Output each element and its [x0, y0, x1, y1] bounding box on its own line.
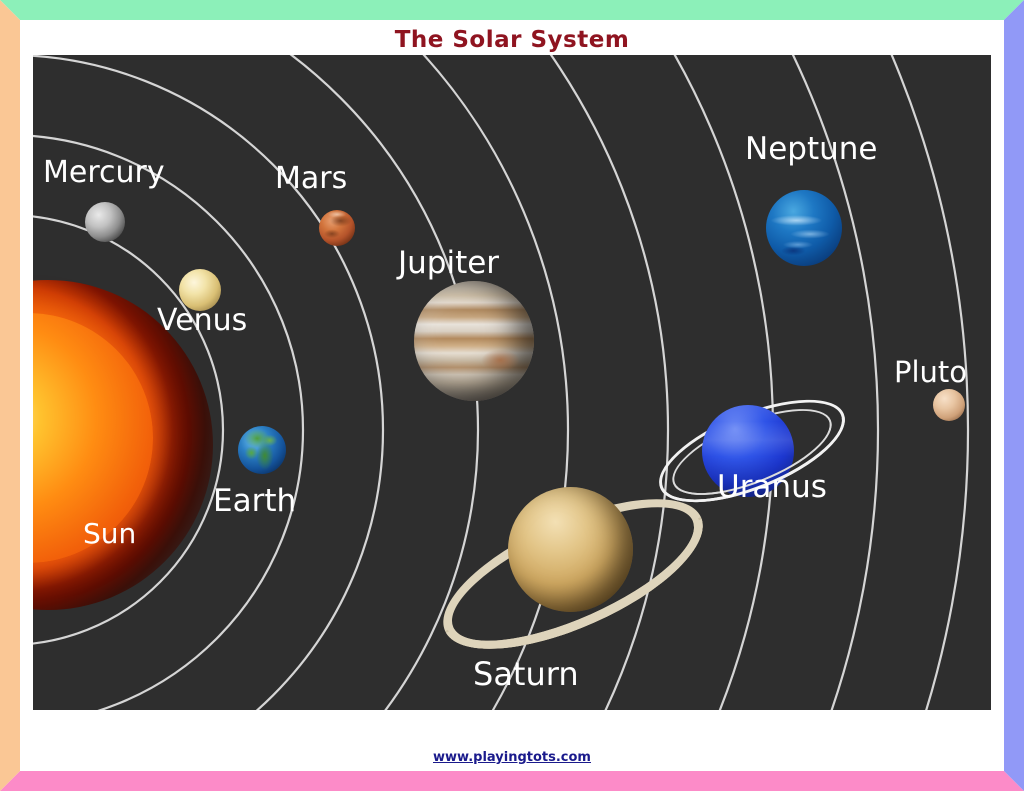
label-neptune: Neptune: [745, 131, 877, 167]
solar-system-poster: The Solar System Sun Mercury Ve: [0, 0, 1024, 791]
mercury-body: [85, 202, 125, 242]
border-left: [0, 0, 20, 791]
border-right: [1004, 0, 1024, 791]
mars-body: [319, 210, 355, 246]
label-mars: Mars: [275, 161, 347, 196]
neptune-body: [766, 190, 842, 266]
footer-link[interactable]: www.playingtots.com: [0, 750, 1024, 765]
page-title: The Solar System: [0, 27, 1024, 53]
label-sun: Sun: [83, 517, 136, 550]
label-mercury: Mercury: [43, 155, 165, 190]
label-venus: Venus: [157, 303, 247, 338]
pluto-body: [933, 389, 965, 421]
space-panel: Sun Mercury Venus Earth Mars Jupiter Sat…: [33, 55, 991, 710]
border-bottom: [0, 771, 1024, 791]
label-earth: Earth: [213, 483, 296, 519]
label-jupiter: Jupiter: [398, 245, 499, 281]
earth-body: [238, 426, 286, 474]
border-top: [0, 0, 1024, 20]
jupiter-body: [414, 281, 534, 401]
label-uranus: Uranus: [717, 469, 827, 505]
label-saturn: Saturn: [473, 655, 579, 693]
label-pluto: Pluto: [894, 355, 967, 389]
